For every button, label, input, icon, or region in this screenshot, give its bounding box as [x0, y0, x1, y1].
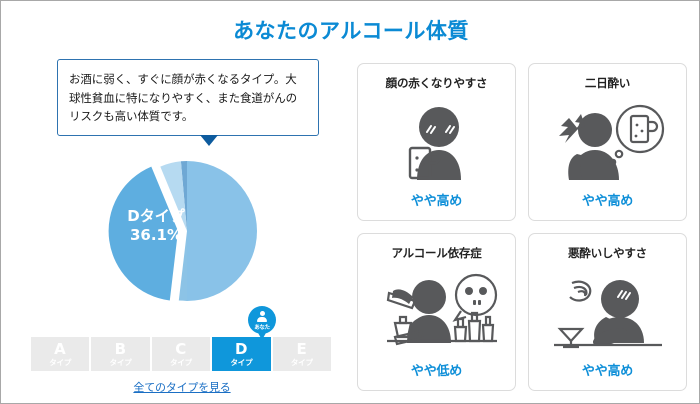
type-tab-e[interactable]: E タイプ [273, 337, 331, 371]
trait-card-face-redness: 顔の赤くなりやすさ [357, 63, 516, 221]
view-all-types-link[interactable]: 全てのタイプを見る [23, 379, 341, 395]
trait-card-bad-drunk-value: やや高め [582, 360, 633, 379]
trait-card-alcohol-dependence-value: やや低め [411, 360, 462, 379]
marker-label: あなた [254, 323, 270, 331]
pie-chart-svg: Dタイプ 36.1% [87, 147, 277, 315]
type-tab-d[interactable]: D タイプ [212, 337, 270, 371]
description-bubble: お酒に弱く、すぐに顔が赤くなるタイプ。大球性貧血に特になりやすく、また食道がんの… [57, 59, 319, 136]
trait-card-bad-drunk: 悪酔いしやすさ [528, 233, 687, 391]
trait-card-face-redness-title: 顔の赤くなりやすさ [386, 75, 488, 91]
trait-card-hangover-value: やや高め [582, 190, 633, 209]
type-distribution-pie-chart: Dタイプ 36.1% [23, 147, 341, 315]
type-tab-e-sub: タイプ [291, 359, 313, 367]
pie-label-percent: 36.1% [130, 226, 182, 244]
flushed-face-with-beer-icon [358, 91, 515, 190]
pie-slice-b [187, 161, 257, 301]
type-tab-c-letter: C [175, 342, 187, 357]
pie-label-type: Dタイプ [127, 207, 185, 225]
description-text: お酒に弱く、すぐに顔が赤くなるタイプ。大球性貧血に特になりやすく、また食道がんの… [69, 70, 307, 126]
type-tab-a-letter: A [54, 342, 66, 357]
sick-drunk-wine-icon [529, 261, 686, 360]
alcohol-constitution-result-page: あなたのアルコール体質 お酒に弱く、すぐに顔が赤くなるタイプ。大球性貧血に特にな… [0, 0, 700, 404]
trait-card-bad-drunk-title: 悪酔いしやすさ [568, 245, 647, 261]
type-tab-a[interactable]: A タイプ [31, 337, 89, 371]
type-tab-c[interactable]: C タイプ [152, 337, 210, 371]
page-title: あなたのアルコール体質 [1, 15, 700, 45]
trait-card-alcohol-dependence-title: アルコール依存症 [391, 245, 481, 261]
alcohol-dependence-skull-icon [358, 261, 515, 360]
marker-bubble: あなた [248, 306, 276, 334]
type-tab-d-letter: D [235, 342, 248, 357]
hangover-headache-icon [529, 91, 686, 190]
bubble-tail-icon [200, 135, 218, 146]
trait-card-grid: 顔の赤くなりやすさ [357, 63, 687, 395]
type-tab-a-sub: タイプ [49, 359, 71, 367]
left-panel: お酒に弱く、すぐに顔が赤くなるタイプ。大球性貧血に特になりやすく、また食道がんの… [23, 59, 341, 395]
type-tab-b-sub: タイプ [110, 359, 132, 367]
trait-card-face-redness-value: やや高め [411, 190, 462, 209]
type-tab-c-sub: タイプ [170, 359, 192, 367]
type-selector[interactable]: A タイプ B タイプ C タイプ D タイプ E タイプ [31, 337, 331, 371]
type-tab-d-sub: タイプ [230, 359, 252, 367]
type-tab-e-letter: E [296, 342, 307, 357]
type-tab-b-letter: B [115, 342, 127, 357]
trait-card-hangover-title: 二日酔い [585, 75, 630, 91]
person-icon [256, 311, 268, 323]
trait-card-hangover: 二日酔い [528, 63, 687, 221]
type-tab-b[interactable]: B タイプ [91, 337, 149, 371]
trait-card-alcohol-dependence: アルコール依存症 [357, 233, 516, 391]
